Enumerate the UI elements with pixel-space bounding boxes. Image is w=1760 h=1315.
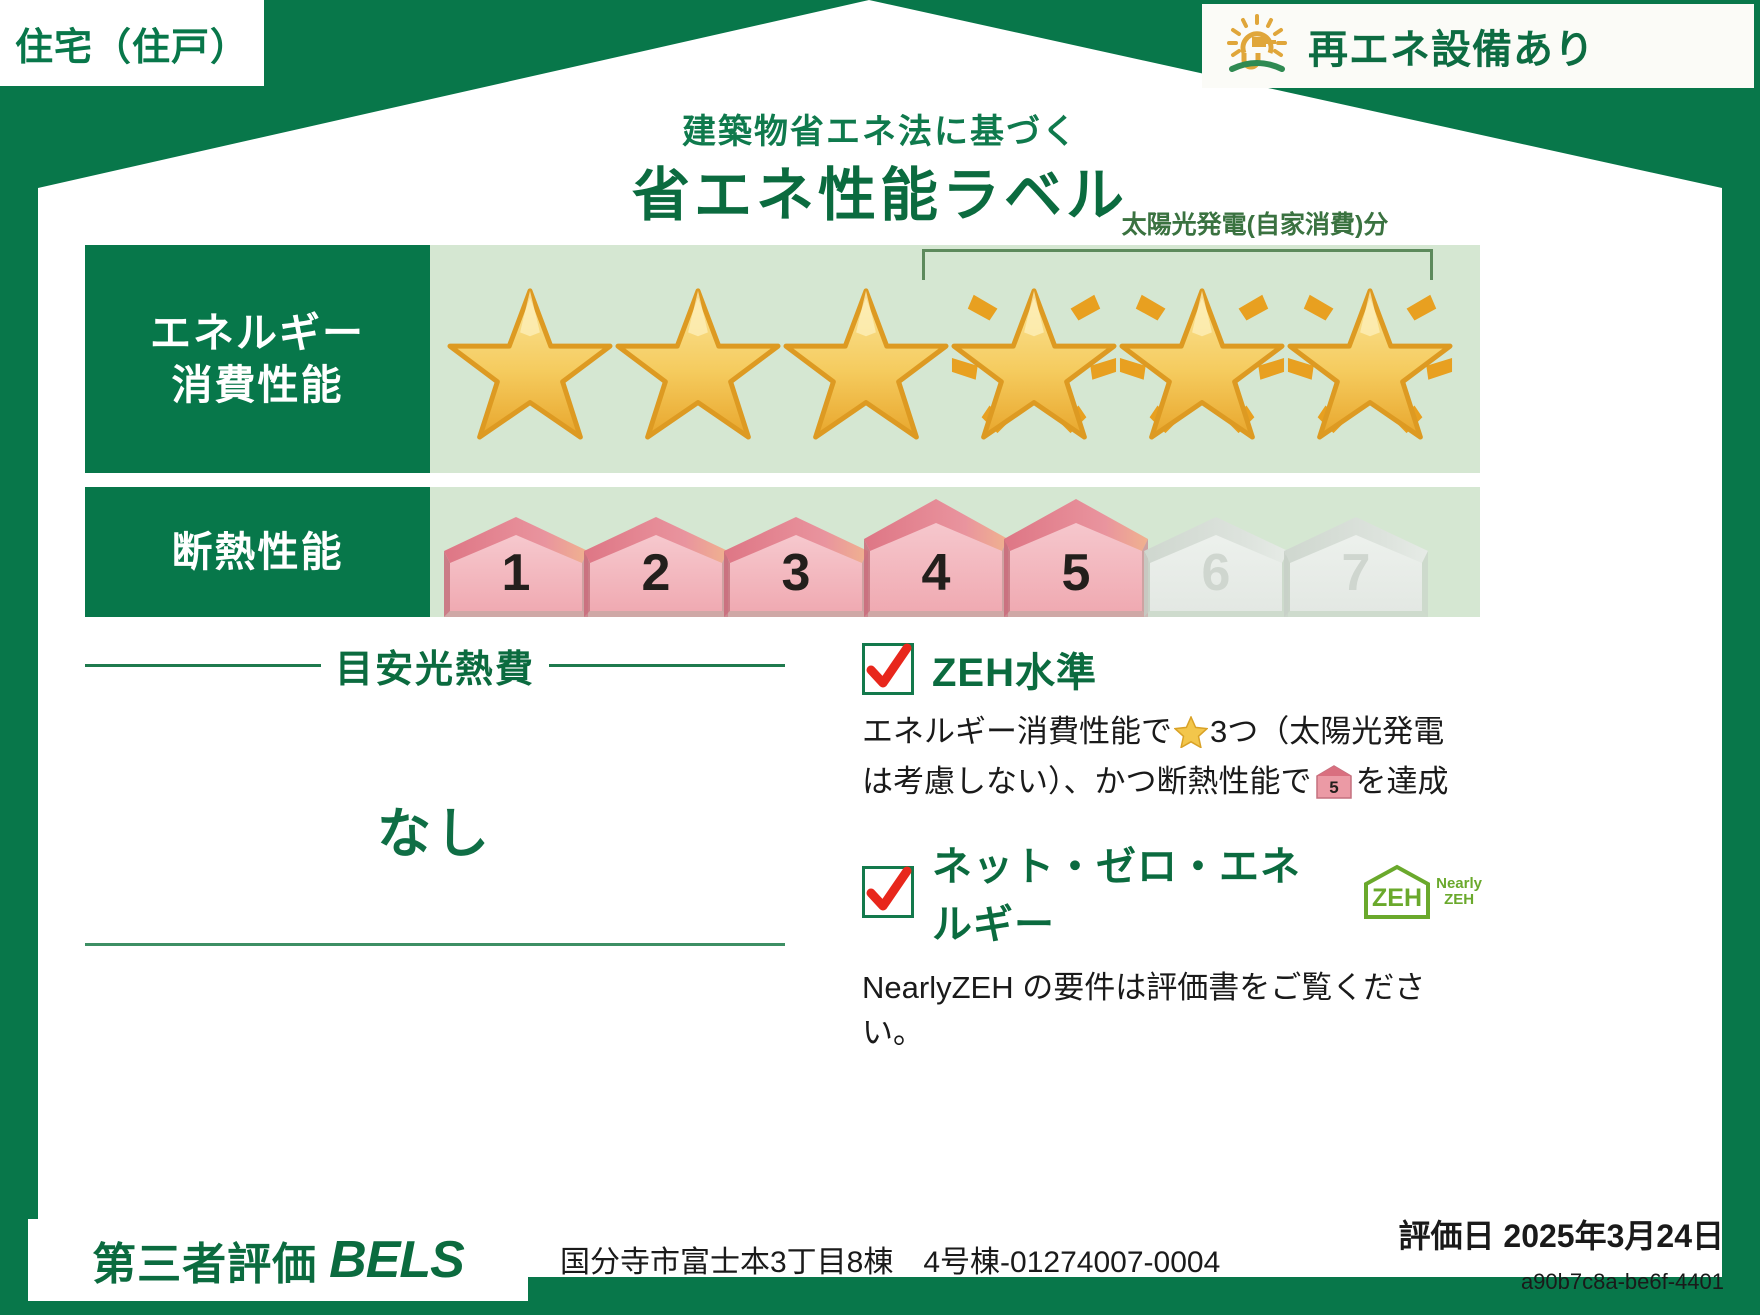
insulation-level-number: 5 bbox=[1004, 543, 1148, 603]
energy-star-6 bbox=[1286, 274, 1454, 444]
insulation-level-scale: 1 2 bbox=[430, 487, 1480, 617]
star-icon bbox=[614, 274, 782, 444]
check-icon bbox=[863, 640, 913, 698]
mini-star-icon bbox=[1174, 716, 1208, 760]
insulation-level-number: 2 bbox=[584, 543, 728, 603]
property-address: 国分寺市富士本3丁目8棟 4号棟-01274007-0004 bbox=[560, 1237, 1220, 1281]
bels-logo: 第三者評価 BELS bbox=[28, 1219, 528, 1301]
zeh-desc-part-1: エネルギー消費性能で bbox=[862, 714, 1172, 749]
building-type-label: 住宅（住戸） bbox=[15, 16, 249, 71]
utility-cost-heading: 目安光熱費 bbox=[85, 638, 785, 693]
insulation-level-3: 3 bbox=[724, 517, 868, 617]
heading-rule-left bbox=[85, 664, 321, 667]
heading-rule-right bbox=[549, 664, 785, 667]
insulation-level-2: 2 bbox=[584, 517, 728, 617]
nearly-zeh-note: NearlyZEH の要件は評価書をご覧ください。 bbox=[862, 962, 1482, 1052]
certificate-serial: a90b7c8a-be6f-4401 bbox=[1521, 1269, 1724, 1295]
nearly-zeh-logo: ZEH Nearly ZEH bbox=[1362, 864, 1482, 920]
performance-rows: エネルギー 消費性能 太陽光発電(自家消費)分 bbox=[85, 245, 1480, 631]
nearly-zeh-sub-2: ZEH bbox=[1444, 891, 1474, 908]
star-icon bbox=[1118, 274, 1286, 444]
utility-cost-bottom-rule bbox=[85, 943, 785, 946]
net-zero-checkbox[interactable] bbox=[862, 866, 914, 918]
insulation-performance-body: 1 2 bbox=[430, 487, 1480, 617]
label-subtitle: 建築物省エネ法に基づく bbox=[0, 104, 1760, 153]
insulation-level-5: 5 bbox=[1004, 499, 1148, 617]
energy-star-rating bbox=[430, 245, 1480, 473]
energy-star-5 bbox=[1118, 274, 1286, 444]
renewable-equipment-badge: 再エネ設備あり bbox=[1202, 4, 1754, 88]
energy-performance-label: エネルギー 消費性能 bbox=[85, 245, 430, 473]
energy-performance-body: 太陽光発電(自家消費)分 bbox=[430, 245, 1480, 473]
evaluation-date: 評価日 2025年3月24日 bbox=[1399, 1211, 1724, 1257]
star-icon bbox=[782, 274, 950, 444]
insulation-level-7: 7 bbox=[1284, 517, 1428, 617]
insulation-level-number: 3 bbox=[724, 543, 868, 603]
bels-en-label: BELS bbox=[329, 1230, 464, 1290]
svg-text:5: 5 bbox=[1329, 778, 1338, 797]
nearly-zeh-sub: Nearly ZEH bbox=[1436, 876, 1482, 908]
energy-star-3 bbox=[782, 274, 950, 444]
label-footer: 第三者評価 BELS 国分寺市富士本3丁目8棟 4号棟-01274007-000… bbox=[0, 1183, 1760, 1315]
building-type-tag: 住宅（住戸） bbox=[0, 0, 264, 86]
insulation-level-number: 7 bbox=[1284, 543, 1428, 603]
check-icon bbox=[863, 863, 913, 921]
insulation-level-6: 6 bbox=[1144, 517, 1288, 617]
insulation-performance-label: 断熱性能 bbox=[85, 487, 430, 617]
zeh-standard-description: エネルギー消費性能で 3つ（太陽光発電 は考慮しない）、かつ断熱性能で 5 を達… bbox=[862, 710, 1482, 812]
star-icon bbox=[446, 274, 614, 444]
star-icon bbox=[1286, 274, 1454, 444]
zeh-house-icon: ZEH bbox=[1362, 864, 1432, 920]
bels-jp-label: 第三者評価 bbox=[92, 1228, 317, 1292]
star-icon bbox=[950, 274, 1118, 444]
insulation-level-4: 4 bbox=[864, 499, 1008, 617]
net-zero-row: ネット・ゼロ・エネルギー ZEH Nearly ZEH bbox=[862, 834, 1482, 950]
utility-cost-section: 目安光熱費 なし bbox=[85, 638, 785, 868]
mini-house-icon: 5 bbox=[1315, 764, 1353, 812]
insulation-performance-row: 断熱性能 bbox=[85, 487, 1480, 617]
zeh-desc-part-4: を達成 bbox=[1356, 764, 1449, 799]
energy-star-2 bbox=[614, 274, 782, 444]
zeh-standard-row: ZEH水準 bbox=[862, 640, 1482, 698]
zeh-logo-text: ZEH bbox=[1372, 884, 1422, 912]
insulation-level-number: 6 bbox=[1144, 543, 1288, 603]
renewable-badge-label: 再エネ設備あり bbox=[1308, 17, 1595, 75]
zeh-section: ZEH水準 エネルギー消費性能で 3つ（太陽光発電 は考慮しない）、かつ断熱性能… bbox=[862, 640, 1482, 1052]
net-zero-label: ネット・ゼロ・エネルギー bbox=[932, 834, 1334, 950]
energy-performance-row: エネルギー 消費性能 太陽光発電(自家消費)分 bbox=[85, 245, 1480, 473]
zeh-standard-label: ZEH水準 bbox=[932, 640, 1097, 698]
insulation-level-number: 1 bbox=[444, 543, 588, 603]
energy-star-1 bbox=[446, 274, 614, 444]
zeh-desc-part-2: 3つ（太陽光発電 bbox=[1210, 714, 1444, 749]
utility-cost-heading-label: 目安光熱費 bbox=[335, 638, 535, 693]
solar-self-consumption-note: 太陽光発電(自家消費)分 bbox=[995, 205, 1515, 241]
zeh-standard-checkbox[interactable] bbox=[862, 643, 914, 695]
insulation-level-number: 4 bbox=[864, 543, 1008, 603]
zeh-desc-part-3: は考慮しない）、かつ断熱性能で bbox=[862, 764, 1312, 799]
energy-star-4 bbox=[950, 274, 1118, 444]
solar-plug-icon bbox=[1222, 13, 1292, 80]
nearly-zeh-sub-1: Nearly bbox=[1436, 875, 1482, 892]
bels-label: 住宅（住戸） bbox=[0, 0, 1760, 1315]
utility-cost-value: なし bbox=[85, 789, 785, 868]
insulation-level-1: 1 bbox=[444, 517, 588, 617]
